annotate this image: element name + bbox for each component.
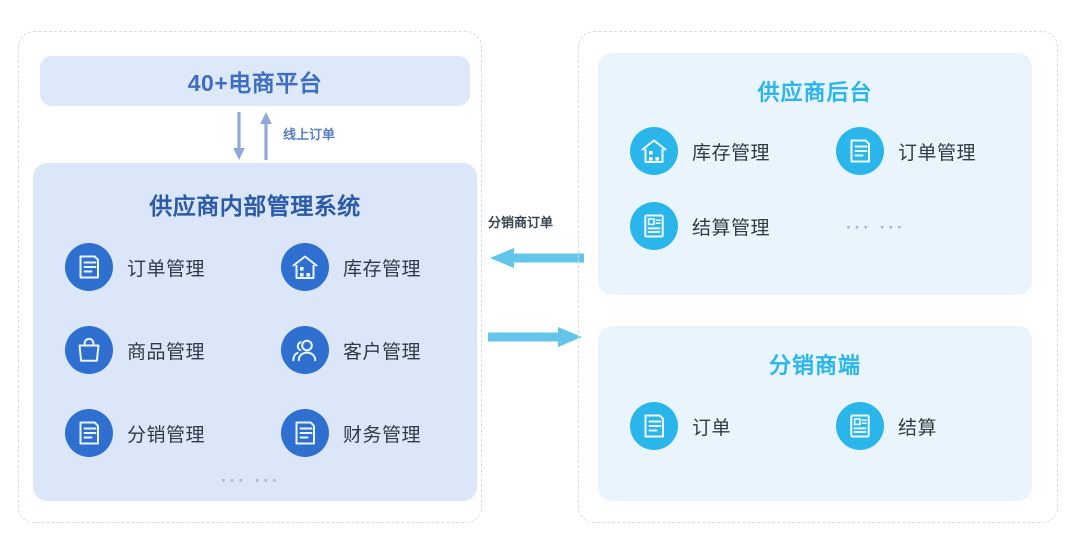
arrow-down-icon — [233, 112, 245, 160]
platform-title: 40+电商平台 — [188, 64, 323, 98]
document-icon — [836, 127, 884, 175]
internal-more-indicator: ··· ··· — [221, 471, 281, 491]
distributor-feature-settlement[interactable]: 结算 — [836, 402, 937, 450]
internal-management-system-card: 供应商内部管理系统 订单管理 — [33, 163, 477, 501]
feature-label: 客户管理 — [343, 337, 421, 364]
ecommerce-platform-card: 40+电商平台 — [40, 56, 470, 106]
arrow-right-icon — [488, 325, 584, 349]
distributor-order-label: 分销商订单 — [488, 212, 553, 231]
distributor-client-card: 分销商端 订单 — [598, 326, 1032, 501]
feature-order-management[interactable]: 订单管理 — [65, 243, 205, 291]
feature-label: 库存管理 — [692, 138, 770, 165]
diagram-canvas: 40+电商平台 线上订单 供应商内部管理系统 — [0, 0, 1080, 560]
feature-label: 订单 — [692, 413, 731, 440]
arrow-up-icon — [260, 112, 272, 160]
distributor-client-title: 分销商端 — [598, 348, 1032, 380]
online-order-flow: 线上订单 — [225, 110, 375, 162]
supplier-feature-inventory[interactable]: 库存管理 — [630, 127, 770, 175]
users-icon — [281, 326, 329, 374]
shopping-bag-icon — [65, 326, 113, 374]
supplier-more-indicator: ··· ··· — [846, 218, 906, 238]
arrow-left-flow — [488, 246, 584, 270]
supplier-feature-settlement[interactable]: 结算管理 — [630, 202, 770, 250]
feature-product-management[interactable]: 商品管理 — [65, 326, 205, 374]
warehouse-icon — [630, 127, 678, 175]
feature-distribution-management[interactable]: 分销管理 — [65, 409, 205, 457]
supplier-feature-order[interactable]: 订单管理 — [836, 127, 976, 175]
feature-label: 分销管理 — [127, 420, 205, 447]
distributor-feature-order[interactable]: 订单 — [630, 402, 731, 450]
feature-label: 财务管理 — [343, 420, 421, 447]
document-icon — [281, 409, 329, 457]
feature-finance-management[interactable]: 财务管理 — [281, 409, 421, 457]
feature-label: 结算 — [898, 413, 937, 440]
feature-label: 库存管理 — [343, 254, 421, 281]
feature-customer-management[interactable]: 客户管理 — [281, 326, 421, 374]
arrow-left-icon — [488, 246, 584, 270]
feature-label: 订单管理 — [898, 138, 976, 165]
internal-system-title: 供应商内部管理系统 — [33, 187, 477, 221]
document-icon — [630, 402, 678, 450]
document-icon — [65, 409, 113, 457]
arrow-right-flow — [488, 325, 584, 349]
invoice-icon — [630, 202, 678, 250]
supplier-backend-title: 供应商后台 — [598, 75, 1032, 107]
feature-label: 商品管理 — [127, 337, 205, 364]
document-icon — [65, 243, 113, 291]
feature-inventory-management[interactable]: 库存管理 — [281, 243, 421, 291]
feature-label: 结算管理 — [692, 213, 770, 240]
online-order-label: 线上订单 — [283, 124, 335, 143]
invoice-icon — [836, 402, 884, 450]
warehouse-icon — [281, 243, 329, 291]
feature-label: 订单管理 — [127, 254, 205, 281]
supplier-backend-card: 供应商后台 库存管理 — [598, 53, 1032, 295]
